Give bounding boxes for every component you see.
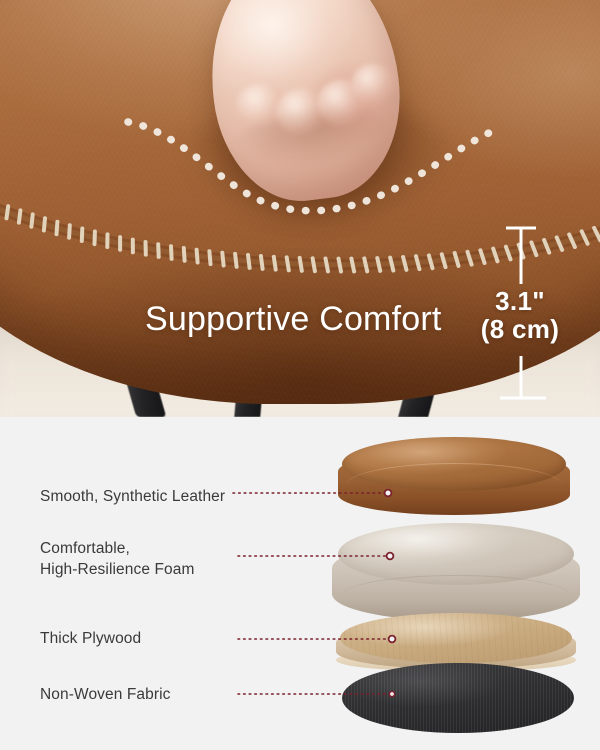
foam-layer [332,523,580,627]
foam-crease [342,575,570,616]
headline-text: Supportive Comfort [145,300,442,339]
dimension-label: 3.1" (8 cm) [454,288,586,343]
dimension-imperial: 3.1" [454,288,586,316]
spec-label-fabric: Non-Woven Fabric [40,685,171,706]
hero-photo-panel: 3.1" (8 cm) Supportive Comfort [0,0,600,417]
fabric-layer [342,663,574,733]
material-layers-panel: Smooth, Synthetic Leather Comfortable, H… [0,417,600,750]
spec-label-plywood: Thick Plywood [40,629,141,650]
spec-label-leather: Smooth, Synthetic Leather [40,487,225,508]
spec-label-foam: Comfortable, High-Resilience Foam [40,539,194,581]
leather-layer [338,437,570,519]
fabric-rib-texture [342,663,574,733]
product-feature-poster: 3.1" (8 cm) Supportive Comfort Smooth, S… [0,0,600,750]
plywood-veneer-texture [340,613,572,663]
leather-rim [346,463,562,508]
dimension-metric: (8 cm) [454,316,586,344]
